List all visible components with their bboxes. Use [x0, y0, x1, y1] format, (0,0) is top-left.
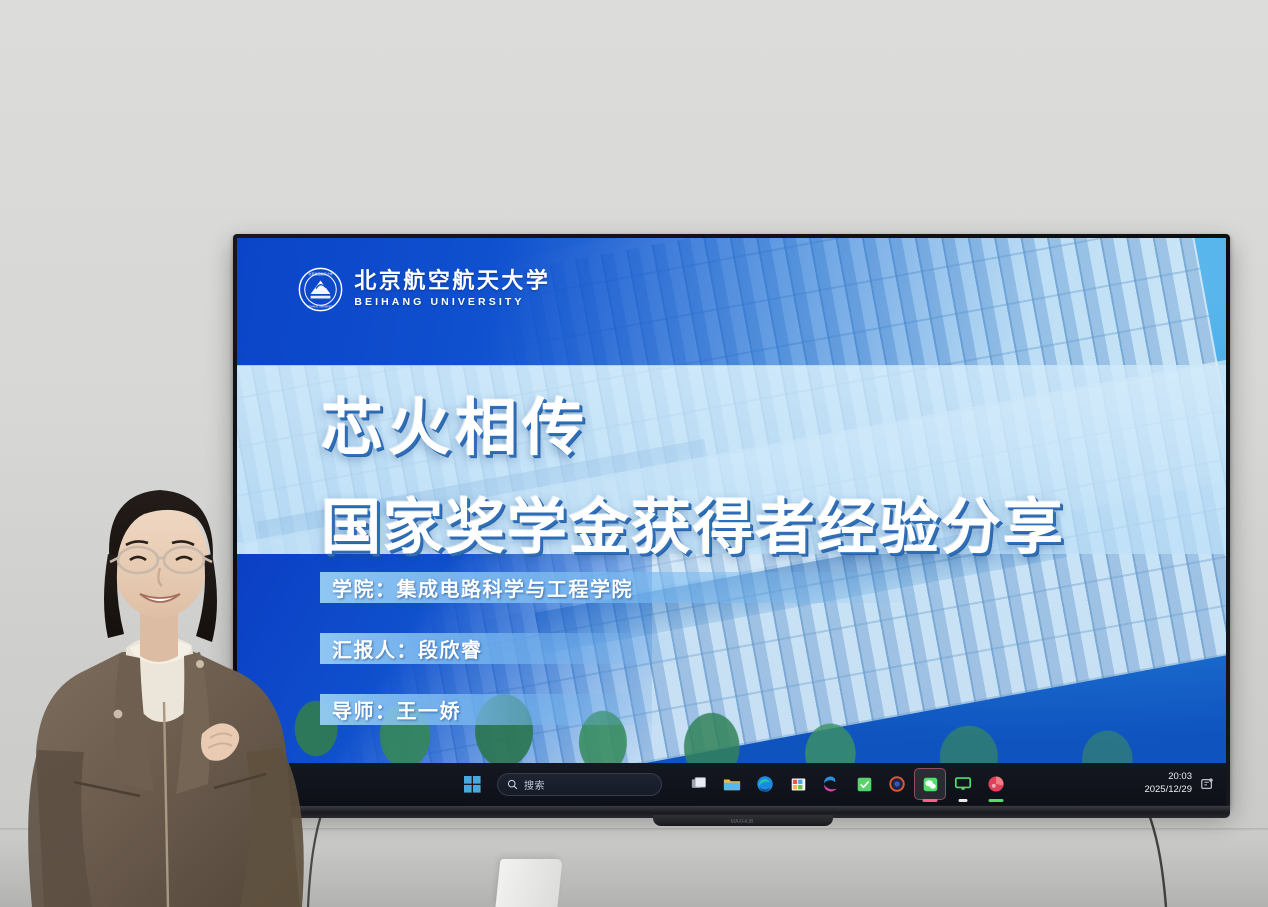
laptop-screen — [495, 859, 562, 907]
clock-date: 2025/12/29 — [1144, 784, 1192, 797]
taskbar-item-browser-alt[interactable] — [816, 769, 846, 799]
info-row-advisor: 导师：王一娇 — [328, 694, 941, 725]
slide-titles: 芯火相传 国家奖学金获得者经验分享 — [237, 377, 1226, 566]
presentation-slide: 北京航空航天大学 BEIHANG UNIVERSITY 北京航空航天大学 BEI… — [237, 238, 1226, 763]
slide-title-secondary: 国家奖学金获得者经验分享 — [321, 479, 1226, 566]
clock[interactable]: 20:03 2025/12/29 — [1144, 771, 1192, 797]
info-text-college: 学院：集成电路科学与工程学院 — [328, 573, 633, 602]
notification-icon[interactable] — [1200, 777, 1214, 791]
search-input[interactable]: 搜索 — [497, 773, 662, 796]
slide-title-primary: 芯火相传 — [321, 377, 1226, 467]
taskbar-item-microsoft-edge[interactable] — [750, 769, 780, 799]
taskbar-item-microsoft-store[interactable] — [783, 769, 813, 799]
tv-screen[interactable]: 北京航空航天大学 BEIHANG UNIVERSITY 北京航空航天大学 BEI… — [237, 238, 1226, 763]
info-row-presenter: 汇报人：段欣睿 — [328, 633, 941, 664]
tv-brand-logo-icon: MAXHUB — [727, 817, 757, 824]
taskbar-system-tray: 20:03 2025/12/29 — [1144, 771, 1226, 797]
info-text-advisor: 导师：王一娇 — [328, 695, 461, 724]
active-indicator — [989, 799, 1004, 802]
jacket-button-left — [114, 710, 123, 719]
jacket-button-right — [196, 660, 204, 668]
taskbar-item-task-view[interactable] — [684, 769, 714, 799]
red-circle-icon — [987, 775, 1005, 793]
monitor-icon — [954, 775, 972, 793]
university-name-en: BEIHANG UNIVERSITY — [354, 297, 550, 308]
wechat-icon — [922, 776, 939, 793]
store-icon — [790, 776, 807, 793]
university-logo-block: 北京航空航天大学 BEIHANG UNIVERSITY 北京航空航天大学 BEI… — [298, 267, 550, 312]
tv-chin: 搜索 — [237, 763, 1226, 805]
green-square-icon — [856, 776, 873, 793]
edge-icon — [756, 775, 774, 793]
search-placeholder: 搜索 — [524, 777, 545, 792]
taskbar-item-file-explorer[interactable] — [717, 769, 747, 799]
taskbar-items: 搜索 — [459, 769, 1144, 799]
clock-time: 20:03 — [1144, 771, 1192, 784]
dark-circle-icon — [888, 775, 906, 793]
slide-info-list: 学院：集成电路科学与工程学院 汇报人：段欣睿 导师：王一娇 — [328, 572, 941, 755]
taskbar-item-wechat[interactable] — [915, 769, 945, 799]
start-button[interactable] — [459, 771, 485, 797]
svg-text:MAXHUB: MAXHUB — [730, 819, 753, 824]
university-name-cn: 北京航空航天大学 — [354, 270, 550, 292]
taskbar-item-green-app[interactable] — [849, 769, 879, 799]
windows-taskbar[interactable]: 搜索 — [237, 763, 1226, 805]
presenter-person — [14, 452, 344, 907]
wall-mounted-tv: 北京航空航天大学 BEIHANG UNIVERSITY 北京航空航天大学 BEI… — [233, 234, 1230, 809]
svg-text:BEIHANG UNIVERSITY: BEIHANG UNIVERSITY — [307, 306, 334, 309]
svg-text:北京航空航天大学: 北京航空航天大学 — [309, 271, 333, 276]
folder-icon — [723, 775, 741, 793]
neck — [140, 612, 178, 662]
info-row-college: 学院：集成电路科学与工程学院 — [328, 572, 941, 603]
info-text-presenter: 汇报人：段欣睿 — [328, 634, 483, 663]
beihang-crest-icon: 北京航空航天大学 BEIHANG UNIVERSITY — [298, 267, 343, 312]
taskbar-item-circle-app[interactable] — [882, 769, 912, 799]
windows-logo-icon — [464, 776, 481, 793]
legacy-edge-icon — [822, 775, 840, 793]
active-indicator — [923, 799, 938, 802]
active-indicator — [959, 799, 968, 802]
taskbar-item-screen-share[interactable] — [948, 769, 978, 799]
task-view-icon — [691, 776, 708, 793]
search-icon — [507, 779, 518, 790]
taskbar-item-media-app[interactable] — [981, 769, 1011, 799]
